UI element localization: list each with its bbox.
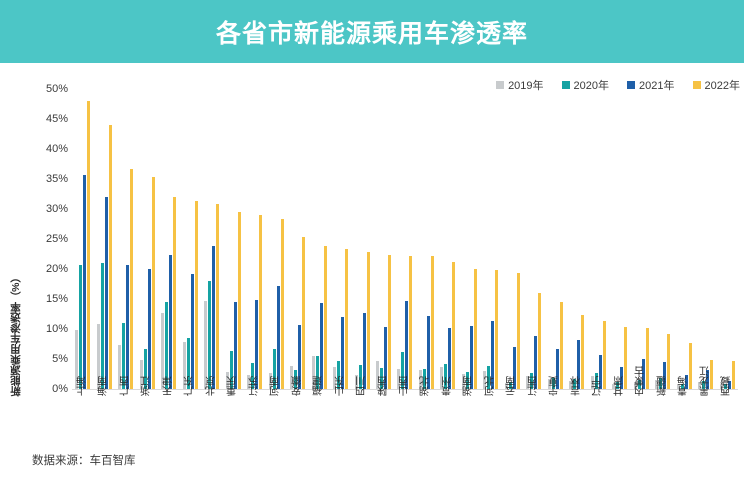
x-axis-tick-label: 四川 xyxy=(355,344,370,396)
x-axis-tick-label: 上海 xyxy=(75,344,90,396)
x-axis-tick-label: 吉林 xyxy=(569,344,584,396)
x-axis-tick-label: 内蒙古 xyxy=(634,344,649,396)
x-axis-tick-label: 北京 xyxy=(204,344,219,396)
x-axis-tick-label: 湖北 xyxy=(419,344,434,396)
x-axis-tick-label: 辽宁 xyxy=(591,344,606,396)
y-axis-tick-label: 0% xyxy=(28,383,68,395)
chart-area: 新能源乘用车渗透率（%） 0%5%10%15%20%25%30%35%40%45… xyxy=(0,84,744,444)
x-axis-tick-label: 陕西 xyxy=(376,344,391,396)
x-axis-tick-label: 黑龙江 xyxy=(698,344,713,396)
x-axis-tick-label: 新疆 xyxy=(655,344,670,396)
x-axis-tick-label: 甘肃 xyxy=(612,344,627,396)
x-axis-tick-label: 天津 xyxy=(161,344,176,396)
y-axis-tick-label: 35% xyxy=(28,173,68,185)
x-axis-tick-label: 海南 xyxy=(97,344,112,396)
source-note: 数据来源：车百智库 xyxy=(32,452,136,468)
x-axis-tick-label: 福建 xyxy=(312,344,327,396)
y-axis-tick-label: 45% xyxy=(28,113,68,125)
x-axis-tick-label: 河北 xyxy=(483,344,498,396)
page-title: 各省市新能源乘用车渗透率 xyxy=(216,14,528,50)
x-axis-tick-label: 安徽 xyxy=(290,344,305,396)
x-axis-tick-label: 云南 xyxy=(505,344,520,396)
x-axis-tick-label: 浙江 xyxy=(140,344,155,396)
x-axis-tick-label: 宁夏 xyxy=(548,344,563,396)
x-axis-tick-label: 青海 xyxy=(677,344,692,396)
x-axis-tick-label: 江苏 xyxy=(247,344,262,396)
y-axis-tick-label: 50% xyxy=(28,83,68,95)
x-axis-tick-label: 贵州 xyxy=(440,344,455,396)
y-axis-tick-label: 30% xyxy=(28,203,68,215)
x-axis-tick-label: 山西 xyxy=(398,344,413,396)
y-axis-tick-label: 40% xyxy=(28,143,68,155)
y-axis-tick-label: 25% xyxy=(28,233,68,245)
y-axis-title-label: 新能源乘用车渗透率（%） xyxy=(8,272,23,397)
x-axis-tick-labels: 上海海南广西浙江天津广东北京重庆江苏河南安徽福建山东四川陕西山西湖北贵州湖南河北… xyxy=(72,396,738,451)
x-axis-tick-label: 西藏 xyxy=(720,344,735,396)
y-axis-tick-label: 15% xyxy=(28,293,68,305)
y-axis-tick-labels: 0%5%10%15%20%25%30%35%40%45%50% xyxy=(28,84,68,389)
y-axis-title: 新能源乘用车渗透率（%） xyxy=(2,234,28,434)
y-axis-tick-label: 10% xyxy=(28,323,68,335)
x-axis-tick-label: 广西 xyxy=(118,344,133,396)
x-axis-tick-label: 河南 xyxy=(269,344,284,396)
x-axis-tick-label: 广东 xyxy=(183,344,198,396)
x-axis-tick-label: 山东 xyxy=(333,344,348,396)
y-axis-tick-label: 5% xyxy=(28,353,68,365)
x-axis-tick-label: 重庆 xyxy=(226,344,241,396)
y-axis-tick-label: 20% xyxy=(28,263,68,275)
title-bar: 各省市新能源乘用车渗透率 xyxy=(0,0,744,63)
chart-page: 各省市新能源乘用车渗透率 2019年2020年2021年2022年 新能源乘用车… xyxy=(0,0,744,478)
x-axis-tick-label: 江西 xyxy=(526,344,541,396)
x-axis-tick-label: 湖南 xyxy=(462,344,477,396)
